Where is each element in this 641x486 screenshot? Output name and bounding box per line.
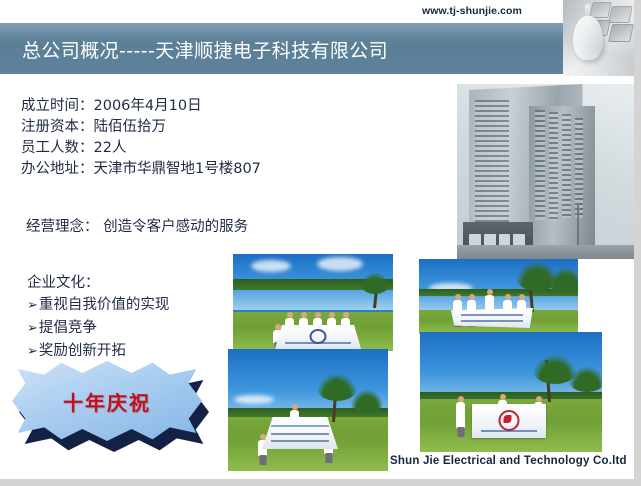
banner-text-line <box>461 314 523 316</box>
page-title: 总公司概况-----天津顺捷电子科技有限公司 <box>22 36 388 63</box>
banner-text-line <box>271 425 329 427</box>
banner-text-line <box>271 433 329 435</box>
badge-label: 十年庆祝 <box>12 361 202 441</box>
info-line-address: 办公地址：天津市华鼎智地1号楼807 <box>21 159 261 180</box>
culture-item-label: 提倡竞争 <box>39 320 97 336</box>
anniversary-badge: 十年庆祝 <box>12 361 210 455</box>
info-line-headcount: 员工人数：22人 <box>21 138 261 159</box>
team-five-photo <box>419 259 578 334</box>
company-banner <box>262 417 338 449</box>
culture-item: ➢提倡竞争 <box>27 317 169 340</box>
palm-crown <box>350 389 384 413</box>
bullet-arrow-icon: ➢ <box>27 298 38 313</box>
culture-item-label: 重视自我价值的实现 <box>39 297 170 313</box>
cloud <box>234 395 274 404</box>
culture-heading: 企业文化： <box>27 272 169 294</box>
company-banner <box>451 308 533 328</box>
cloud <box>317 257 363 271</box>
company-banner <box>472 404 546 438</box>
window-band <box>535 110 545 220</box>
window-band <box>549 112 558 220</box>
company-logo-icon <box>499 410 520 431</box>
company-info-block: 成立时间：2006年4月10日 注册资本：陆佰伍拾万 员工人数：22人 办公地址… <box>21 96 261 180</box>
culture-item-label: 奖励创新开拓 <box>39 343 126 359</box>
window-band <box>475 100 509 228</box>
team-three-beach-photo <box>228 349 388 471</box>
culture-item: ➢重视自我价值的实现 <box>27 294 169 317</box>
team-member <box>456 402 465 428</box>
banner-text-line <box>285 342 350 344</box>
palm-crown <box>547 267 578 293</box>
info-line-capital: 注册资本：陆佰伍拾万 <box>21 117 261 138</box>
bullet-arrow-icon: ➢ <box>27 344 38 359</box>
team-group-photo <box>233 254 393 351</box>
street-foreground <box>457 245 634 259</box>
banner-text-line <box>481 430 537 432</box>
banner-text-line <box>461 320 523 322</box>
team-three-red-logo-photo <box>420 332 602 452</box>
banner-text-line <box>271 440 329 442</box>
slide-content: www.tj-shunjie.com 总公司概况-----天津顺捷电子科技有限公… <box>0 0 634 479</box>
window-band <box>575 118 583 218</box>
slide-canvas: www.tj-shunjie.com 总公司概况-----天津顺捷电子科技有限公… <box>0 0 641 486</box>
mouse-keyboard-photo <box>563 0 634 76</box>
bullet-arrow-icon: ➢ <box>27 321 38 336</box>
info-line-founded: 成立时间：2006年4月10日 <box>21 96 261 117</box>
photo-overlay <box>563 0 634 76</box>
company-banner <box>275 325 361 349</box>
corporate-culture-block: 企业文化： ➢重视自我价值的实现 ➢提倡竞争 ➢奖励创新开拓 <box>27 272 169 363</box>
window-band <box>562 114 571 218</box>
culture-item: ➢奖励创新开拓 <box>27 340 169 363</box>
office-building-photo <box>457 84 634 259</box>
website-url: www.tj-shunjie.com <box>422 5 522 17</box>
business-philosophy: 经营理念： 创造令客户感动的服务 <box>26 215 248 236</box>
company-name-caption: Shun Jie Electrical and Technology Co.lt… <box>390 455 627 467</box>
cloud <box>251 260 291 272</box>
palm-crown <box>360 272 390 294</box>
palm-crown <box>568 366 602 392</box>
